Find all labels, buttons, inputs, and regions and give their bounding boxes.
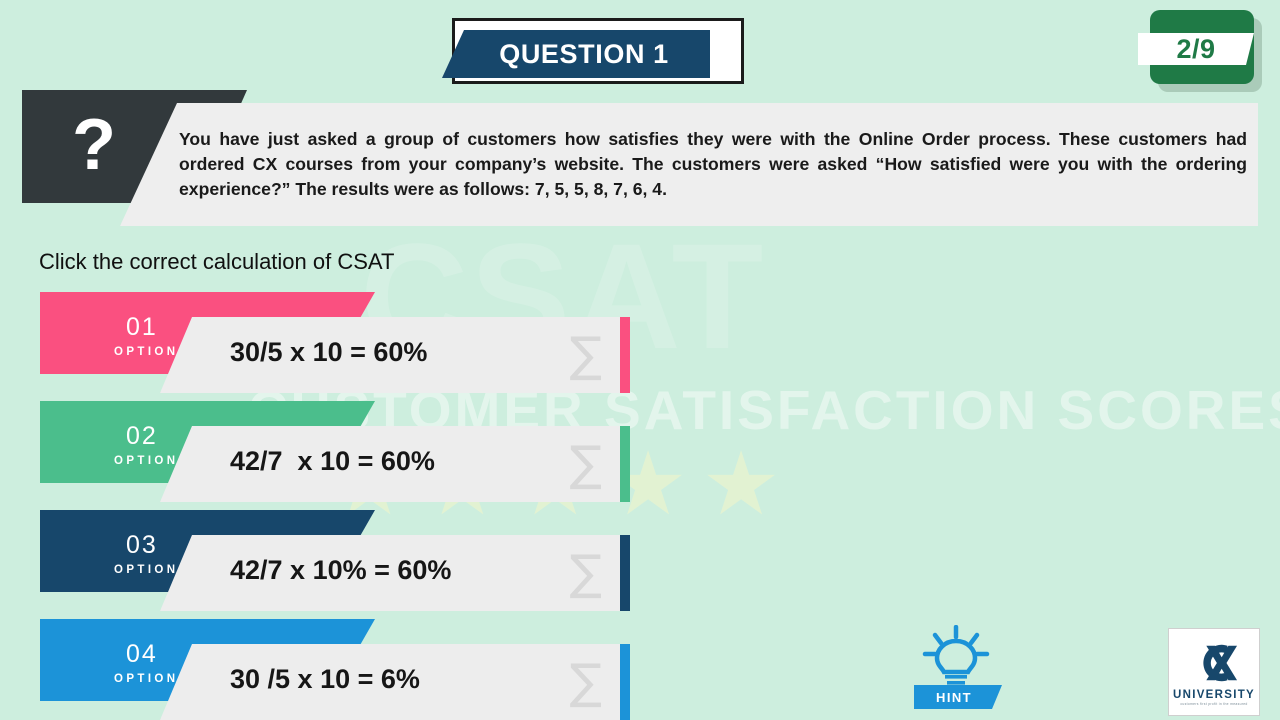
option-word: OPTION <box>114 455 179 467</box>
option-edge-bar <box>620 644 630 720</box>
hint-button[interactable]: HINT <box>908 625 1004 715</box>
question-mark-icon: ? <box>72 109 116 181</box>
option-row[interactable]: 01 OPTION 30/5 x 10 = 60% ∑ <box>0 292 660 402</box>
question-banner-inner: QUESTION 1 <box>442 30 710 78</box>
option-panel-02[interactable]: 42/7 x 10 = 60% ∑ <box>160 426 630 502</box>
instruction-text: Click the correct calculation of CSAT <box>39 249 394 275</box>
question-text: You have just asked a group of customers… <box>179 127 1247 202</box>
progress-badge: 2/9 <box>1150 10 1262 92</box>
hint-banner[interactable]: HINT <box>914 685 1002 709</box>
option-number: 01 <box>126 313 158 342</box>
option-number: 03 <box>126 531 158 560</box>
progress-counter: 2/9 <box>1176 34 1215 65</box>
logo-tagline: customers first profit in the measured <box>1180 702 1247 706</box>
option-answer: 42/7 x 10 = 60% <box>230 446 435 477</box>
option-row[interactable]: 04 OPTION 30 /5 x 10 = 6% ∑ <box>0 619 660 720</box>
option-panel-03[interactable]: 42/7 x 10% = 60% ∑ <box>160 535 630 611</box>
sigma-icon: ∑ <box>570 440 602 488</box>
option-number: 02 <box>126 422 158 451</box>
option-panel-01[interactable]: 30/5 x 10 = 60% ∑ <box>160 317 630 393</box>
option-edge-bar <box>620 535 630 611</box>
option-word: OPTION <box>114 346 179 358</box>
option-edge-bar <box>620 317 630 393</box>
option-row[interactable]: 02 OPTION 42/7 x 10 = 60% ∑ <box>0 401 660 511</box>
logo-name: UNIVERSITY <box>1173 689 1255 701</box>
question-title: QUESTION 1 <box>483 39 669 70</box>
question-banner: QUESTION 1 <box>452 18 744 84</box>
sigma-icon: ∑ <box>570 549 602 597</box>
option-answer: 42/7 x 10% = 60% <box>230 555 451 586</box>
cx-monogram-icon <box>1185 639 1243 687</box>
option-panel-04[interactable]: 30 /5 x 10 = 6% ∑ <box>160 644 630 720</box>
option-word: OPTION <box>114 673 179 685</box>
option-answer: 30 /5 x 10 = 6% <box>230 664 420 695</box>
lightbulb-icon <box>908 625 1004 687</box>
option-number: 04 <box>126 640 158 669</box>
option-word: OPTION <box>114 564 179 576</box>
sigma-icon: ∑ <box>570 331 602 379</box>
question-text-panel: You have just asked a group of customers… <box>120 103 1258 226</box>
hint-label: HINT <box>936 690 980 705</box>
option-edge-bar <box>620 426 630 502</box>
progress-badge-ribbon: 2/9 <box>1138 33 1254 65</box>
option-row[interactable]: 03 OPTION 42/7 x 10% = 60% ∑ <box>0 510 660 620</box>
logo: UNIVERSITY customers first profit in the… <box>1168 628 1260 716</box>
sigma-icon: ∑ <box>570 658 602 706</box>
option-answer: 30/5 x 10 = 60% <box>230 337 427 368</box>
